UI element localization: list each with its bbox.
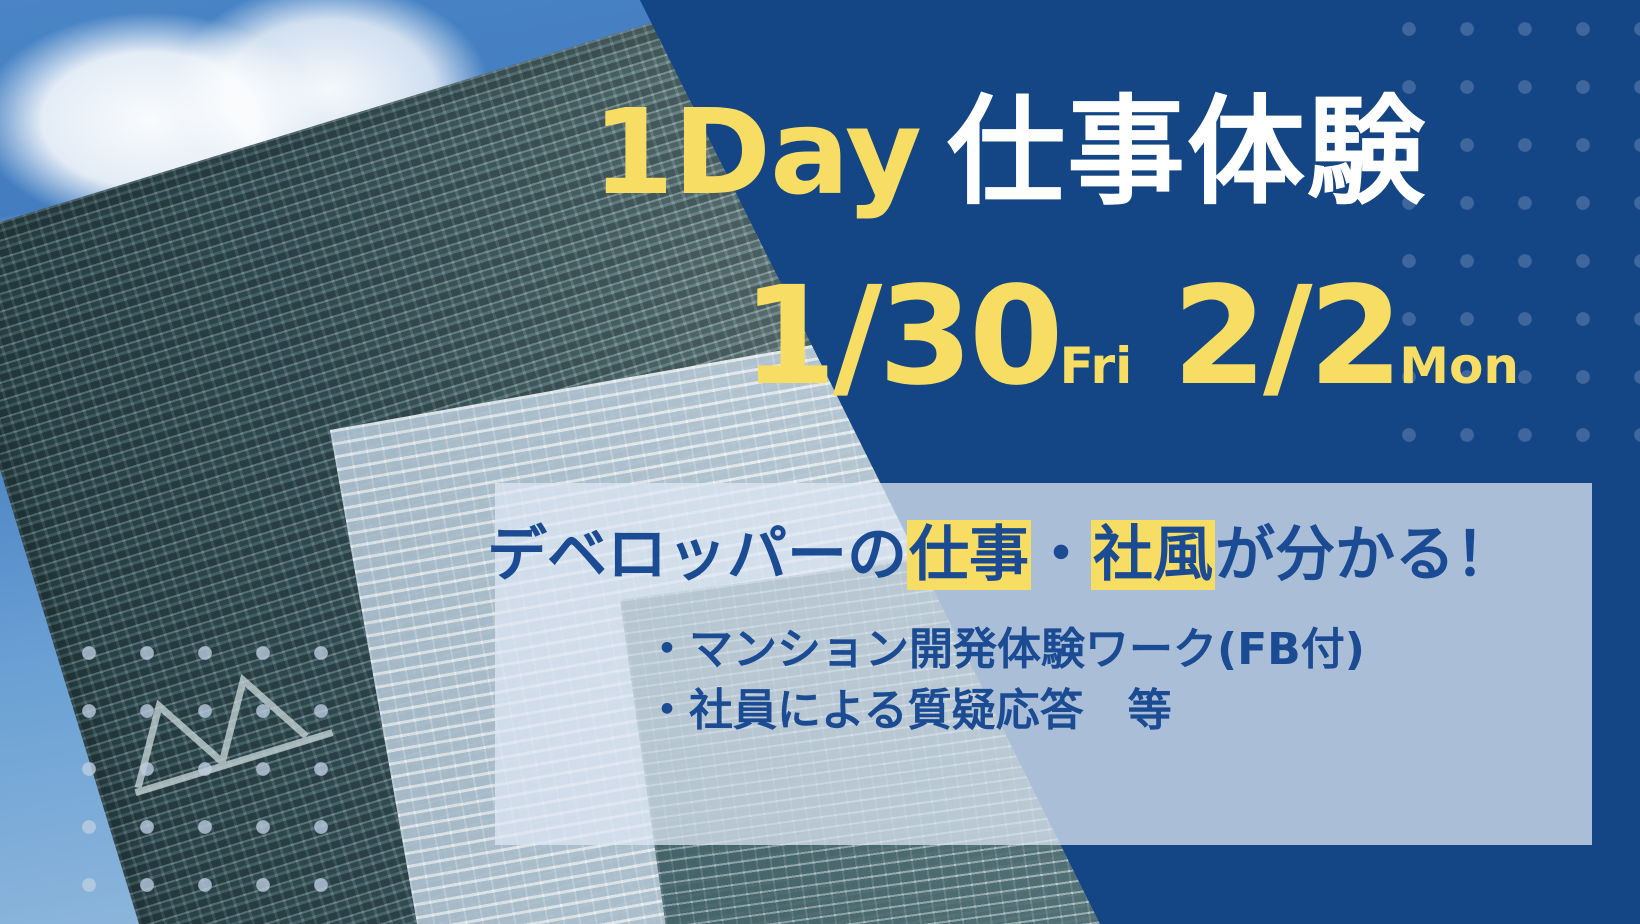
date-2-value: 2/2 [1172, 258, 1399, 416]
headline: 1Day仕事体験 [592, 96, 1602, 209]
tagline-highlight-culture: 社風 [1091, 520, 1215, 590]
event-dates: 1/30Fri2/2Mon [742, 258, 1519, 416]
recruiting-event-banner: 1Day仕事体験 1/30Fri2/2Mon デベロッパーの仕事・社風が分かる！… [0, 0, 1640, 924]
date-1-value: 1/30 [742, 258, 1060, 416]
tagline-part1: デベロッパーの [487, 520, 907, 590]
tagline-highlight-work: 仕事 [907, 520, 1031, 590]
list-item: ・マンション開発体験ワーク(FB付) [645, 620, 1365, 681]
date-2-weekday: Mon [1399, 337, 1519, 395]
tagline-separator: ・ [1031, 520, 1091, 590]
tagline-part2: が分かる！ [1215, 520, 1515, 590]
list-item: ・社員による質疑応答 等 [645, 681, 1365, 742]
headline-emphasis: 1Day [592, 83, 921, 221]
headline-japanese: 仕事体験 [947, 83, 1427, 221]
tagline: デベロッパーの仕事・社風が分かる！ [487, 506, 1607, 593]
date-1-weekday: Fri [1060, 337, 1133, 395]
headline-line: 1Day仕事体験 [592, 96, 1602, 209]
program-bullet-list: ・マンション開発体験ワーク(FB付) ・社員による質疑応答 等 [645, 620, 1365, 741]
